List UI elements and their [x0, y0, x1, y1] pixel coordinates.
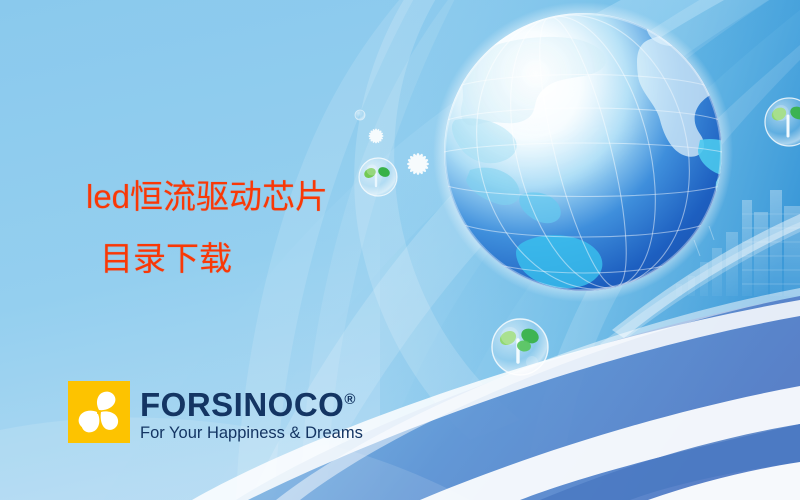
bubble-tiny — [355, 110, 365, 120]
brand-text: FORSINOCO® For Your Happiness & Dreams — [140, 381, 363, 443]
banner-canvas: led恒流驱动芯片 目录下载 FORSINOCO® For Your Happi… — [0, 0, 800, 500]
registered-trademark-icon: ® — [344, 391, 355, 408]
brand-tagline: For Your Happiness & Dreams — [140, 423, 363, 443]
brand-logo: FORSINOCO® For Your Happiness & Dreams — [68, 381, 363, 443]
headline-line-1: led恒流驱动芯片 — [86, 166, 506, 228]
brand-name-text: FORSINOCO — [140, 386, 344, 423]
headline-line-2: 目录下载 — [86, 228, 506, 290]
banner-headline: led恒流驱动芯片 目录下载 — [86, 166, 506, 290]
pinwheel-logo-icon — [68, 381, 130, 443]
brand-name: FORSINOCO® — [140, 383, 363, 422]
bubble-seedling-lower — [492, 319, 548, 375]
